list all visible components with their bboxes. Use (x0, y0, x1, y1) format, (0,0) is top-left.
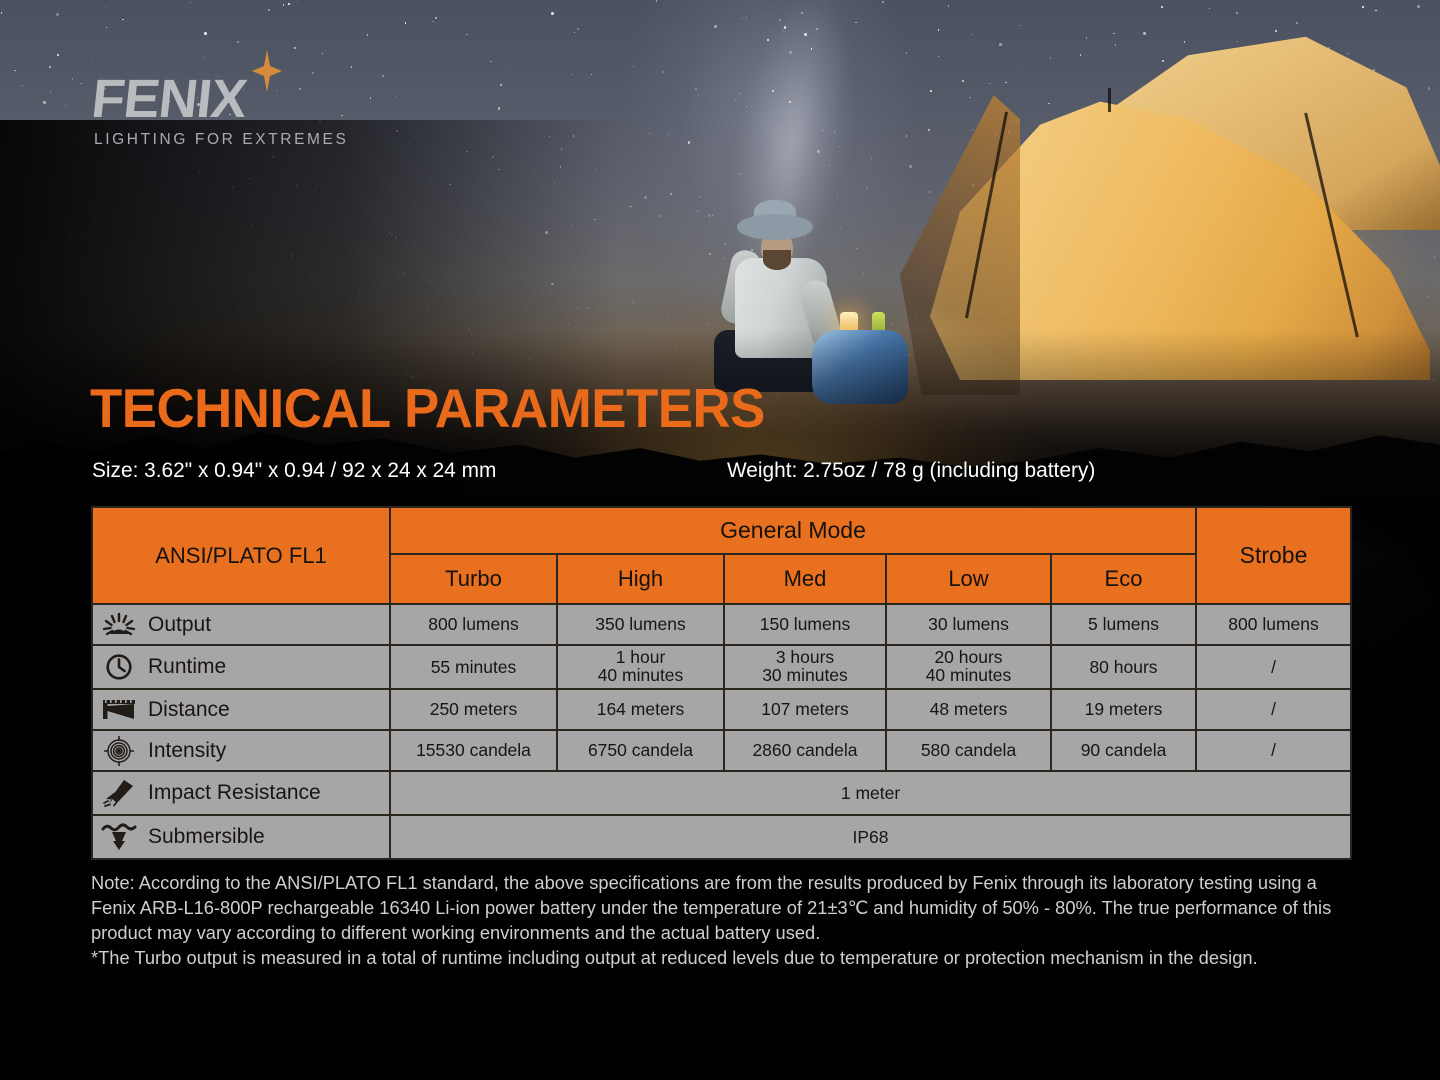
cell-runtime-high: 1 hour40 minutes (557, 645, 724, 689)
row-label-text: Runtime (148, 655, 226, 679)
size-spec-line: Size: 3.62" x 0.94" x 0.94 / 92 x 24 x 2… (92, 458, 496, 483)
sunburst-icon (99, 610, 139, 640)
strobe-column-header: Strobe (1196, 507, 1351, 604)
cell-impact-resistance-value: 1 meter (390, 771, 1351, 815)
table-corner-label: ANSI/PLATO FL1 (92, 507, 390, 604)
technical-parameters-table: ANSI/PLATO FL1 General Mode Strobe Turbo… (91, 506, 1352, 860)
clock-icon (99, 652, 139, 682)
column-header-med: Med (724, 554, 886, 604)
cell-intensity-eco: 90 candela (1051, 730, 1196, 771)
cell-runtime-strobe: / (1196, 645, 1351, 689)
general-mode-group-header: General Mode (390, 507, 1196, 554)
target-icon (99, 736, 139, 766)
row-label-output: Output (92, 604, 390, 645)
row-label-intensity: Intensity (92, 730, 390, 771)
cell-output-turbo: 800 lumens (390, 604, 557, 645)
cell-output-low: 30 lumens (886, 604, 1051, 645)
cell-output-high: 350 lumens (557, 604, 724, 645)
cell-runtime-turbo: 55 minutes (390, 645, 557, 689)
table-row: Impact Resistance1 meter (92, 771, 1351, 815)
cell-output-strobe: 800 lumens (1196, 604, 1351, 645)
table-row: Distance250 meters164 meters107 meters48… (92, 689, 1351, 730)
cell-intensity-med: 2860 candela (724, 730, 886, 771)
row-label-text: Submersible (148, 825, 265, 849)
cell-distance-turbo: 250 meters (390, 689, 557, 730)
cell-intensity-low: 580 candela (886, 730, 1051, 771)
table-row: Runtime55 minutes1 hour40 minutes3 hours… (92, 645, 1351, 689)
cell-output-eco: 5 lumens (1051, 604, 1196, 645)
table-row: Output800 lumens350 lumens150 lumens30 l… (92, 604, 1351, 645)
cell-intensity-high: 6750 candela (557, 730, 724, 771)
column-header-high: High (557, 554, 724, 604)
submersible-arrow-icon (99, 822, 139, 852)
impact-hammer-icon (99, 778, 139, 808)
row-label-impact-resistance: Impact Resistance (92, 771, 390, 815)
row-label-runtime: Runtime (92, 645, 390, 689)
column-header-low: Low (886, 554, 1051, 604)
cell-runtime-eco: 80 hours (1051, 645, 1196, 689)
cell-distance-med: 107 meters (724, 689, 886, 730)
weight-spec-line: Weight: 2.75oz / 78 g (including battery… (727, 458, 1095, 483)
cell-output-med: 150 lumens (724, 604, 886, 645)
row-label-text: Output (148, 613, 211, 637)
table-row: Intensity15530 candela6750 candela2860 c… (92, 730, 1351, 771)
row-label-submersible: Submersible (92, 815, 390, 859)
footnote-block: Note: According to the ANSI/PLATO FL1 st… (91, 870, 1359, 970)
page-title: TECHNICAL PARAMETERS (90, 381, 765, 436)
cell-distance-low: 48 meters (886, 689, 1051, 730)
row-label-text: Distance (148, 698, 230, 722)
cell-submersible-value: IP68 (390, 815, 1351, 859)
column-header-eco: Eco (1051, 554, 1196, 604)
cell-distance-eco: 19 meters (1051, 689, 1196, 730)
beam-distance-icon (99, 695, 139, 725)
cell-intensity-turbo: 15530 candela (390, 730, 557, 771)
table-header-row-1: ANSI/PLATO FL1 General Mode Strobe (92, 507, 1351, 554)
footnote-line-2: *The Turbo output is measured in a total… (91, 945, 1359, 970)
cell-runtime-low: 20 hours40 minutes (886, 645, 1051, 689)
cell-distance-high: 164 meters (557, 689, 724, 730)
row-label-text: Impact Resistance (148, 781, 321, 805)
row-label-distance: Distance (92, 689, 390, 730)
cell-intensity-strobe: / (1196, 730, 1351, 771)
cell-runtime-med: 3 hours30 minutes (724, 645, 886, 689)
table-row: SubmersibleIP68 (92, 815, 1351, 859)
row-label-text: Intensity (148, 739, 226, 763)
column-header-turbo: Turbo (390, 554, 557, 604)
footnote-line-1: Note: According to the ANSI/PLATO FL1 st… (91, 870, 1359, 945)
cell-distance-strobe: / (1196, 689, 1351, 730)
